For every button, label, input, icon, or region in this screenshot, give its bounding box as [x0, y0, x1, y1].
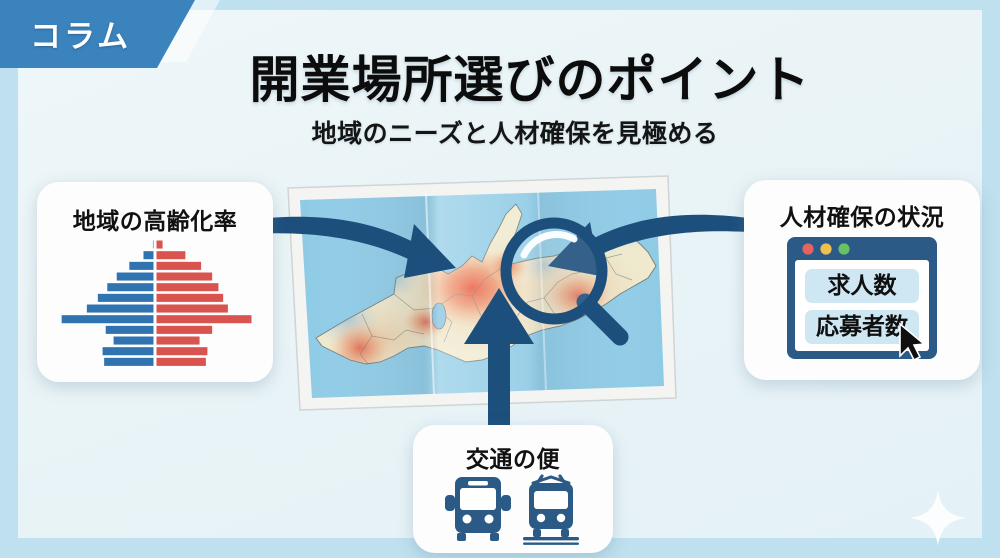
card-aging-rate[interactable]: 地域の高齢化率 — [37, 182, 273, 382]
window-dot-green — [838, 243, 849, 254]
pyramid-bar-male — [116, 272, 154, 281]
pyramid-bar-female — [156, 304, 228, 313]
magnifying-glass-icon — [488, 205, 638, 355]
pyramid-bar-male — [143, 251, 154, 260]
card-left-title: 地域の高齢化率 — [37, 202, 273, 236]
pyramid-bar-male — [61, 315, 154, 324]
pyramid-bar-female — [156, 261, 202, 270]
pyramid-bar-female — [156, 347, 208, 356]
pyramid-bar-female — [156, 283, 219, 292]
window-dot-yellow — [820, 243, 831, 254]
pyramid-bar-female — [156, 336, 200, 345]
browser-button-row-1: 求人数 — [805, 269, 919, 303]
pyramid-bar-female — [156, 315, 252, 324]
pyramid-bar-female — [156, 240, 163, 249]
pyramid-bar-male — [113, 336, 154, 345]
pyramid-bar-male — [105, 325, 154, 334]
content-panel: 地域の高齢化率 人材確保の状況 求人数 応募者数 — [18, 10, 982, 538]
pyramid-bar-male — [86, 304, 154, 313]
browser-button-1-label: 求人数 — [828, 272, 898, 298]
pyramid-bar-female — [156, 325, 213, 334]
browser-window-icon[interactable]: 求人数 応募者数 — [784, 234, 940, 362]
page-subtitle: 地域のニーズと人材確保を見極める — [18, 114, 982, 150]
transport-icons — [441, 473, 585, 545]
pyramid-bar-female — [156, 272, 213, 281]
window-dot-red — [802, 243, 813, 254]
pyramid-bars — [61, 240, 252, 366]
column-badge-label: コラム — [30, 11, 131, 56]
pyramid-bar-female — [156, 293, 224, 302]
pyramid-bar-male — [104, 357, 154, 366]
pyramid-bar-male — [129, 261, 154, 270]
pyramid-bar-male — [97, 293, 154, 302]
card-right-title: 人材確保の状況 — [744, 198, 980, 232]
card-transport[interactable]: 交通の便 — [413, 425, 613, 553]
pyramid-bar-male — [102, 347, 154, 356]
train-icon — [523, 476, 579, 545]
bus-icon — [445, 477, 511, 541]
browser-button-2-label: 応募者数 — [816, 313, 909, 339]
card-bottom-title: 交通の便 — [413, 440, 613, 474]
card-hiring-status[interactable]: 人材確保の状況 求人数 応募者数 — [744, 180, 980, 380]
pyramid-bar-female — [156, 251, 186, 260]
population-pyramid-chart — [55, 240, 255, 368]
pyramid-bar-female — [156, 357, 206, 366]
infographic-canvas: 地域の高齢化率 人材確保の状況 求人数 応募者数 — [0, 0, 1000, 558]
sparkle-icon — [908, 488, 968, 548]
pyramid-bar-male — [107, 283, 154, 292]
pyramid-bar-male — [152, 240, 154, 249]
